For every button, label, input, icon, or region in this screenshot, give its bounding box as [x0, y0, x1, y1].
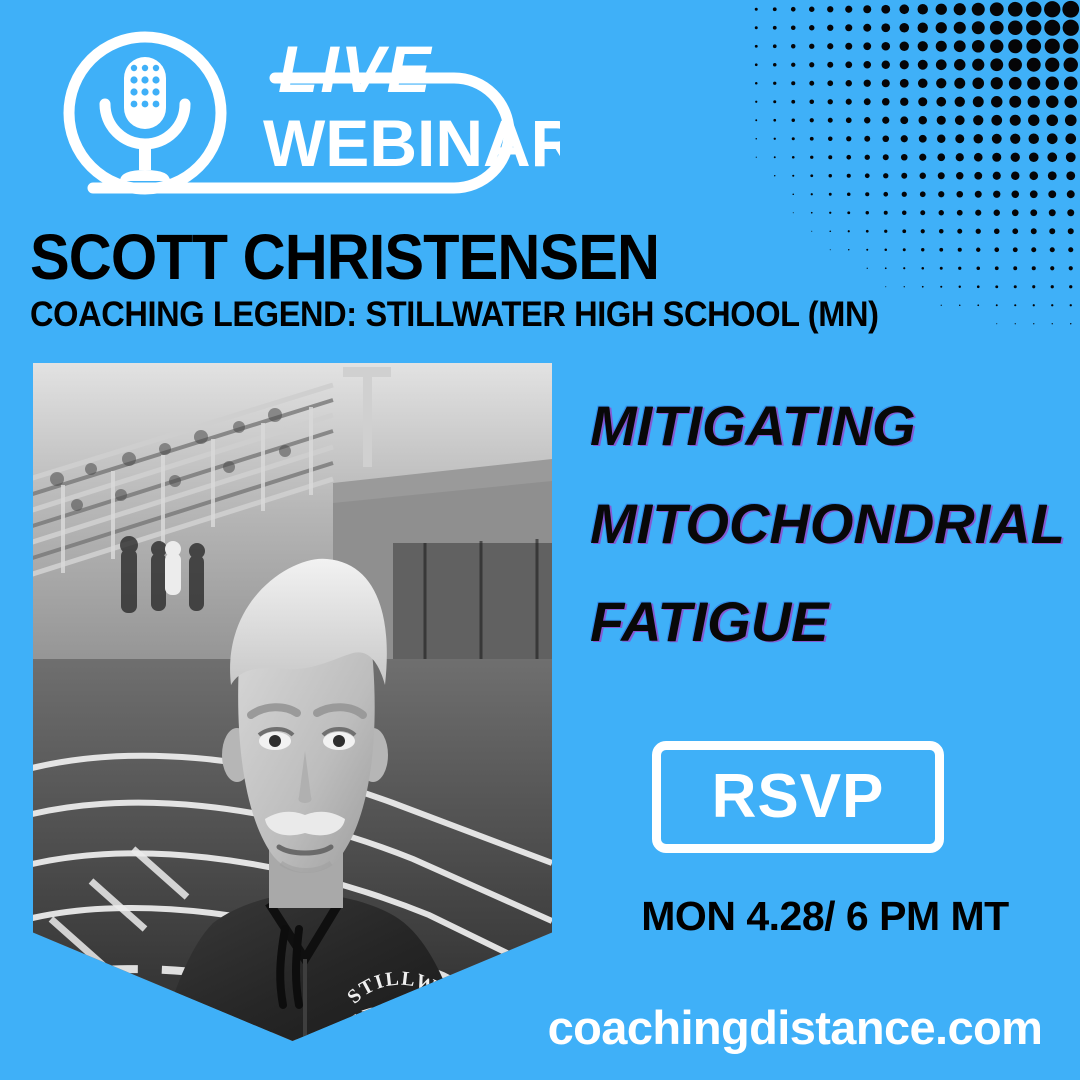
- badge-webinar-text: WEBINAR: [263, 106, 560, 180]
- jacket-logo: STILLWATER TRACK: [340, 967, 479, 1041]
- speaker-name: SCOTT CHRISTENSEN: [30, 228, 923, 287]
- talk-title-line-3: FATIGUE: [590, 594, 1060, 650]
- rsvp-button[interactable]: RSVP: [652, 741, 944, 853]
- webinar-promo-poster: LIVE WEBINAR SCOTT CHRISTENSEN COACHING …: [0, 0, 1080, 1080]
- talk-title: MITIGATING MITOCHONDRIAL FATIGUE: [590, 398, 1060, 650]
- website-url[interactable]: coachingdistance.com: [530, 1000, 1060, 1055]
- speaker-photo: STILLWATER TRACK: [33, 363, 552, 1041]
- talk-title-line-1: MITIGATING: [590, 398, 1060, 454]
- rsvp-button-label: RSVP: [712, 766, 885, 828]
- badge-live-text: LIVE: [278, 32, 433, 106]
- mustache: [265, 812, 345, 836]
- talk-title-line-2: MITOCHONDRIAL: [590, 496, 1060, 552]
- live-webinar-badge: LIVE WEBINAR: [60, 18, 560, 208]
- microphone-icon: [105, 57, 185, 181]
- event-datetime: MON 4.28/ 6 PM MT: [590, 893, 1060, 940]
- speaker-subtitle: COACHING LEGEND: STILLWATER HIGH SCHOOL …: [30, 293, 923, 337]
- speaker-name-block: SCOTT CHRISTENSEN COACHING LEGEND: STILL…: [30, 228, 990, 337]
